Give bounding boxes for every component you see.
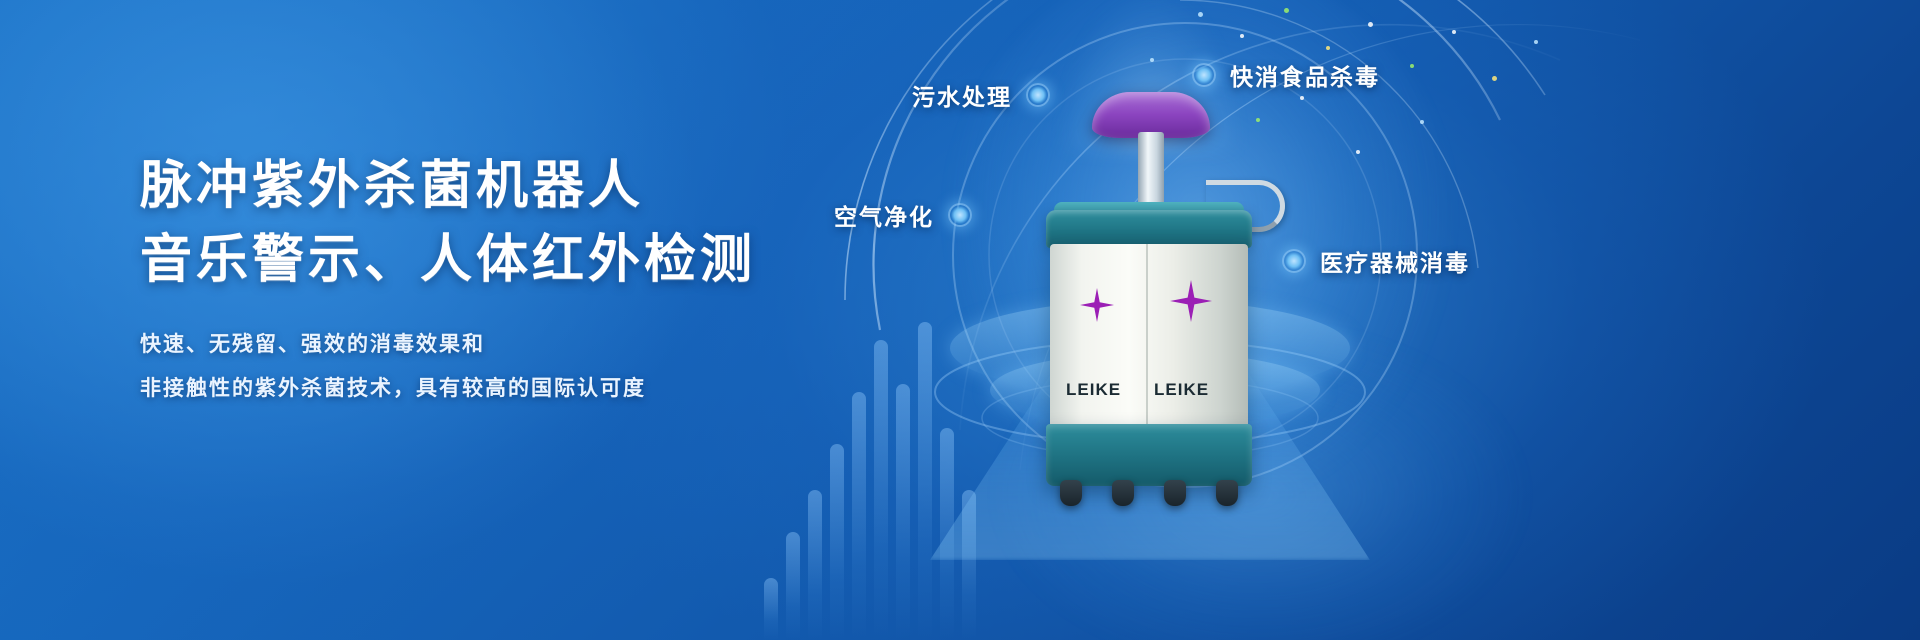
- equalizer-bar: [830, 444, 844, 640]
- robot-caster-wheel: [1060, 480, 1082, 506]
- sparkle-particle: [1326, 46, 1330, 50]
- equalizer-bar: [764, 578, 778, 640]
- callout-dot-icon: [1282, 249, 1306, 273]
- sparkle-particle: [1534, 40, 1538, 44]
- equalizer-bar: [918, 322, 932, 640]
- sparkle-particle: [1410, 64, 1414, 68]
- body-line-1: 快速、无残留、强效的消毒效果和: [140, 322, 860, 366]
- robot-panel-seam: [1146, 244, 1148, 430]
- callout-dot-icon: [948, 203, 972, 227]
- sparkle-particle: [1150, 58, 1154, 62]
- feature-callout-medical[interactable]: 医疗器械消毒: [1282, 244, 1470, 278]
- sparkle-particle: [1240, 34, 1244, 38]
- sparkle-particle: [1368, 22, 1373, 27]
- headline-copy-block: 脉冲紫外杀菌机器人 音乐警示、人体红外检测 快速、无残留、强效的消毒效果和 非接…: [140, 150, 860, 410]
- body-line-2: 非接触性的紫外杀菌技术，具有较高的国际认可度: [140, 366, 860, 410]
- copy-spacer: [140, 298, 860, 322]
- feature-label: 污水处理: [912, 78, 1012, 112]
- equalizer-bar: [874, 340, 888, 640]
- sparkle-particle: [1356, 150, 1360, 154]
- equalizer-bar: [808, 490, 822, 640]
- feature-label: 空气净化: [834, 198, 934, 232]
- headline-line-1: 脉冲紫外杀菌机器人: [140, 150, 860, 224]
- headline-line-2: 音乐警示、人体红外检测: [140, 224, 860, 298]
- equalizer-bar: [786, 532, 800, 640]
- robot-base-housing: [1046, 424, 1252, 486]
- brand-label-left: LEIKE: [1066, 380, 1121, 400]
- product-hero-banner: 脉冲紫外杀菌机器人 音乐警示、人体红外检测 快速、无残留、强效的消毒效果和 非接…: [0, 0, 1920, 640]
- robot-caster-wheel: [1216, 480, 1238, 506]
- sparkle-particle: [1284, 8, 1289, 13]
- feature-label: 快消食品杀毒: [1230, 58, 1380, 92]
- sparkle-particle: [1492, 76, 1497, 81]
- robot-caster-wheel: [1112, 480, 1134, 506]
- sparkle-particle: [1300, 96, 1304, 100]
- robot-lamp-stem: [1138, 132, 1164, 212]
- equalizer-bar: [896, 384, 910, 640]
- uv-disinfection-robot: LEIKE LEIKE: [1020, 92, 1280, 492]
- equalizer-bar: [852, 392, 866, 640]
- feature-callout-sewage[interactable]: 污水处理: [912, 78, 1050, 112]
- feature-label: 医疗器械消毒: [1320, 244, 1470, 278]
- robot-body-panel: [1050, 244, 1248, 430]
- brand-label-right: LEIKE: [1154, 380, 1209, 400]
- sparkle-particle: [1198, 12, 1203, 17]
- robot-caster-wheel: [1164, 480, 1186, 506]
- feature-callout-air[interactable]: 空气净化: [834, 198, 972, 232]
- robot-upper-housing: [1046, 210, 1252, 248]
- sparkle-particle: [1452, 30, 1456, 34]
- callout-dot-icon: [1026, 83, 1050, 107]
- sparkle-particle: [1420, 120, 1424, 124]
- feature-callout-food[interactable]: 快消食品杀毒: [1192, 58, 1380, 92]
- callout-dot-icon: [1192, 63, 1216, 87]
